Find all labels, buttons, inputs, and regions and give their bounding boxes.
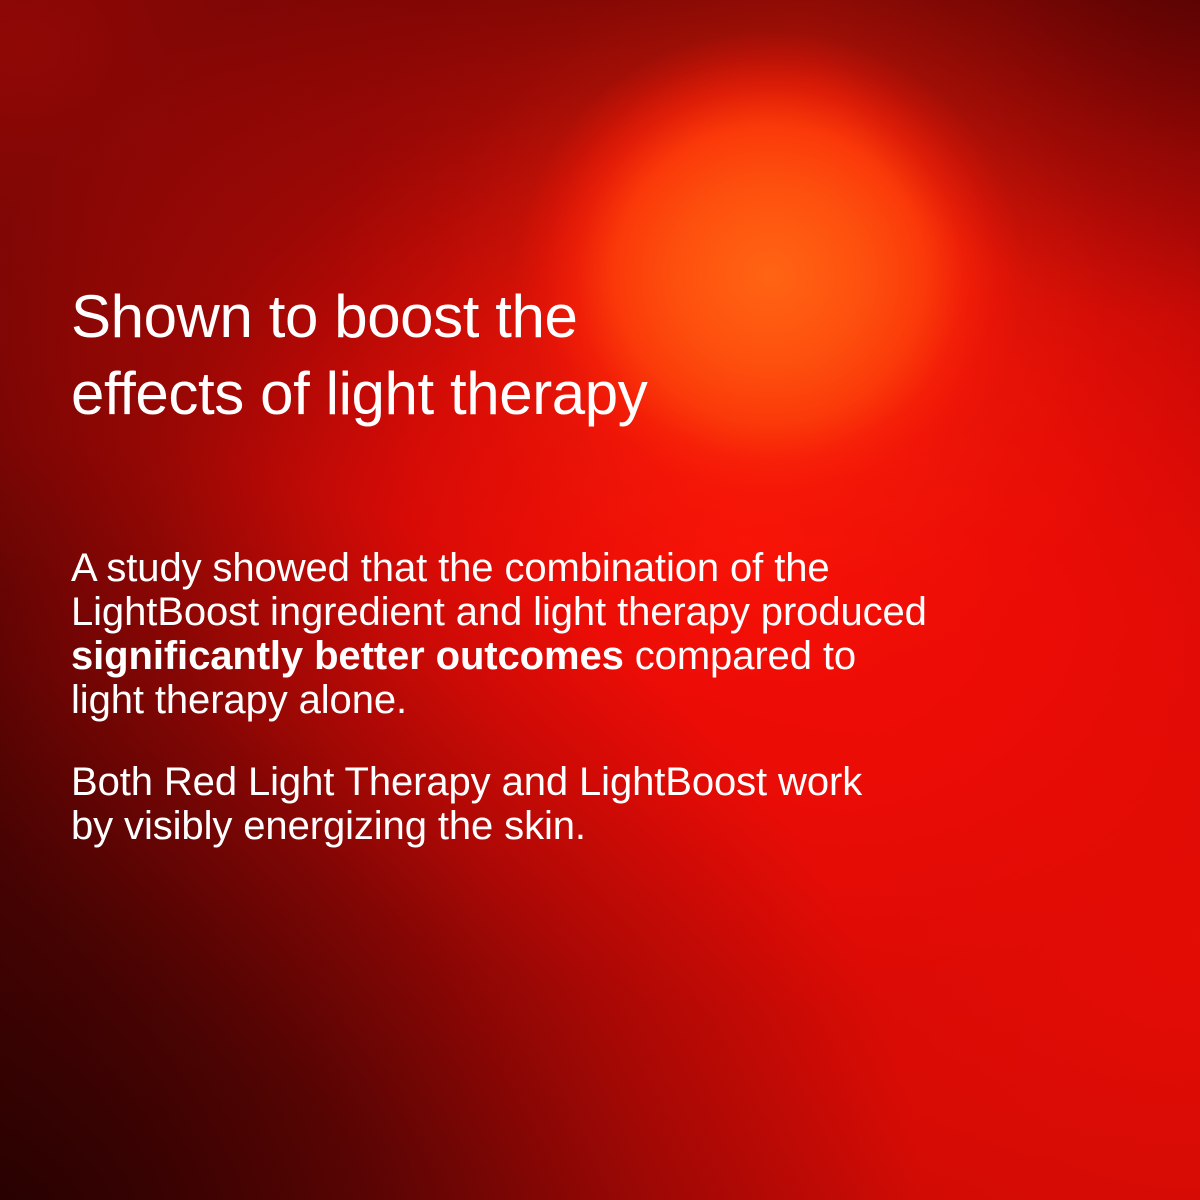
headline: Shown to boost the effects of light ther… (71, 278, 831, 432)
promo-card: Shown to boost the effects of light ther… (0, 0, 1200, 1200)
body-text-emphasis: significantly better outcomes (71, 634, 624, 678)
card-content: Shown to boost the effects of light ther… (0, 0, 1200, 1200)
body-paragraph-study-result: A study showed that the combination of t… (71, 546, 971, 722)
body-paragraph-mechanism: Both Red Light Therapy and LightBoost wo… (71, 760, 971, 848)
body-text-lead: A study showed that the combination of t… (71, 546, 927, 634)
